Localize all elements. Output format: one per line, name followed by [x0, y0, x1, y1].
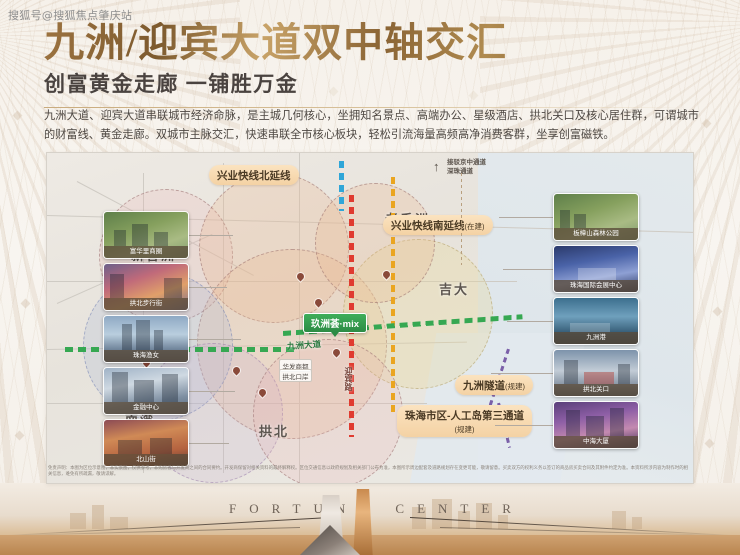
- map-district-blob: [315, 183, 435, 303]
- map-district-blob: [253, 339, 403, 484]
- route-label-text: 珠海市区-人工岛第三通道: [405, 410, 524, 422]
- photo-caption: 板樟山森林公园: [554, 228, 638, 240]
- map-route-label-xingye-north: 兴业快线北延线: [209, 165, 299, 185]
- route-label-note: (规建): [505, 382, 525, 391]
- photo-leader-line: [499, 217, 553, 218]
- intro-paragraph: 九洲大道、迎宾大道串联城市经济命脉，是主城几何核心，坐拥知名景点、高端办公、星级…: [44, 106, 699, 144]
- route-label-note: (规建): [455, 425, 475, 434]
- photo-caption: 九洲港: [554, 332, 638, 344]
- project-marker[interactable]: 玖洲荟·mix: [303, 313, 367, 333]
- photo-card-right-5[interactable]: 中海大厦: [553, 401, 639, 449]
- photo-card-right-2[interactable]: 珠海国际会展中心: [553, 245, 639, 293]
- photo-caption: 拱北步行街: [104, 298, 188, 310]
- connector-note: 接驳京中通道 深珠通道: [447, 159, 486, 176]
- photo-leader-line: [189, 339, 241, 340]
- photo-card-right-4[interactable]: 拱北关口: [553, 349, 639, 397]
- route-label-text: 兴业快线北延线: [217, 170, 291, 182]
- photo-caption: 中海大厦: [554, 436, 638, 448]
- photo-leader-line: [495, 425, 553, 426]
- map-boundary-dotline: [461, 173, 462, 265]
- watermark-text: 搜狐号@搜狐焦点肇庆站: [8, 7, 132, 23]
- photo-caption: 富华里商圈: [104, 246, 188, 258]
- map-district-label-gongbei: 拱北: [259, 421, 289, 440]
- map-route-xingye-south: [391, 177, 395, 415]
- legal-disclaimer: 免责声明：本图为区位示意图，非实景图，仅供参考，非购房者与开发商之间的合同要约。…: [48, 466, 688, 479]
- photo-card-left-3[interactable]: 珠海渔女: [103, 315, 189, 363]
- photo-card-right-1[interactable]: 板樟山森林公园: [553, 193, 639, 241]
- photo-caption: 珠海渔女: [104, 350, 188, 362]
- page-subtitle: 创富黄金走廊 一铺胜万金: [44, 68, 692, 98]
- map-route-label-third-channel: 珠海市区-人工岛第三通道(规建): [397, 405, 532, 437]
- photo-card-left-5[interactable]: 北山街: [103, 419, 189, 467]
- header-block: 九洲/迎宾大道双中轴交汇 创富黄金走廊 一铺胜万金: [44, 22, 692, 108]
- map-road-label-jiuzhou: 九洲大道: [287, 338, 322, 352]
- photo-card-left-2[interactable]: 拱北步行街: [103, 263, 189, 311]
- photo-caption: 金融中心: [104, 402, 188, 414]
- north-arrow-icon: ↑: [433, 159, 440, 174]
- map-road-label-yingbin: 迎宾路: [343, 367, 354, 391]
- photo-leader-line: [503, 269, 553, 270]
- photo-caption: 珠海国际会展中心: [554, 280, 638, 292]
- route-label-note: (在建): [465, 222, 485, 231]
- photo-leader-line: [507, 321, 553, 322]
- photo-leader-line: [189, 391, 235, 392]
- photo-caption: 拱北关口: [554, 384, 638, 396]
- location-map-panel[interactable]: 新香洲 老香洲 吉大 前山 南湾 拱北 迎宾路 九洲大道 兴业快线北延线 兴业快…: [46, 152, 694, 484]
- footer-band: FORTUNE CENTER: [0, 483, 740, 555]
- photo-leader-line: [189, 287, 227, 288]
- page-title: 九洲/迎宾大道双中轴交汇: [44, 22, 692, 64]
- photo-card-left-4[interactable]: 金融中心: [103, 367, 189, 415]
- photo-card-right-3[interactable]: 九洲港: [553, 297, 639, 345]
- route-label-text: 兴业快线南延线: [391, 220, 465, 232]
- map-route-label-jiuzhou-tunnel: 九洲隧道(规建): [455, 375, 533, 395]
- photo-card-left-1[interactable]: 富华里商圈: [103, 211, 189, 259]
- photo-caption: 北山街: [104, 454, 188, 466]
- route-label-text: 九洲隧道: [463, 380, 505, 392]
- map-route-label-xingye-south: 兴业快线南延线(在建): [383, 215, 493, 235]
- photo-leader-line: [189, 443, 229, 444]
- map-district-label-jida: 吉大: [439, 279, 469, 298]
- photo-leader-line: [491, 373, 553, 374]
- photo-leader-line: [189, 235, 233, 236]
- map-poi-chip: 拱北口岸: [279, 369, 312, 382]
- map-route-xingye-north: [339, 161, 344, 211]
